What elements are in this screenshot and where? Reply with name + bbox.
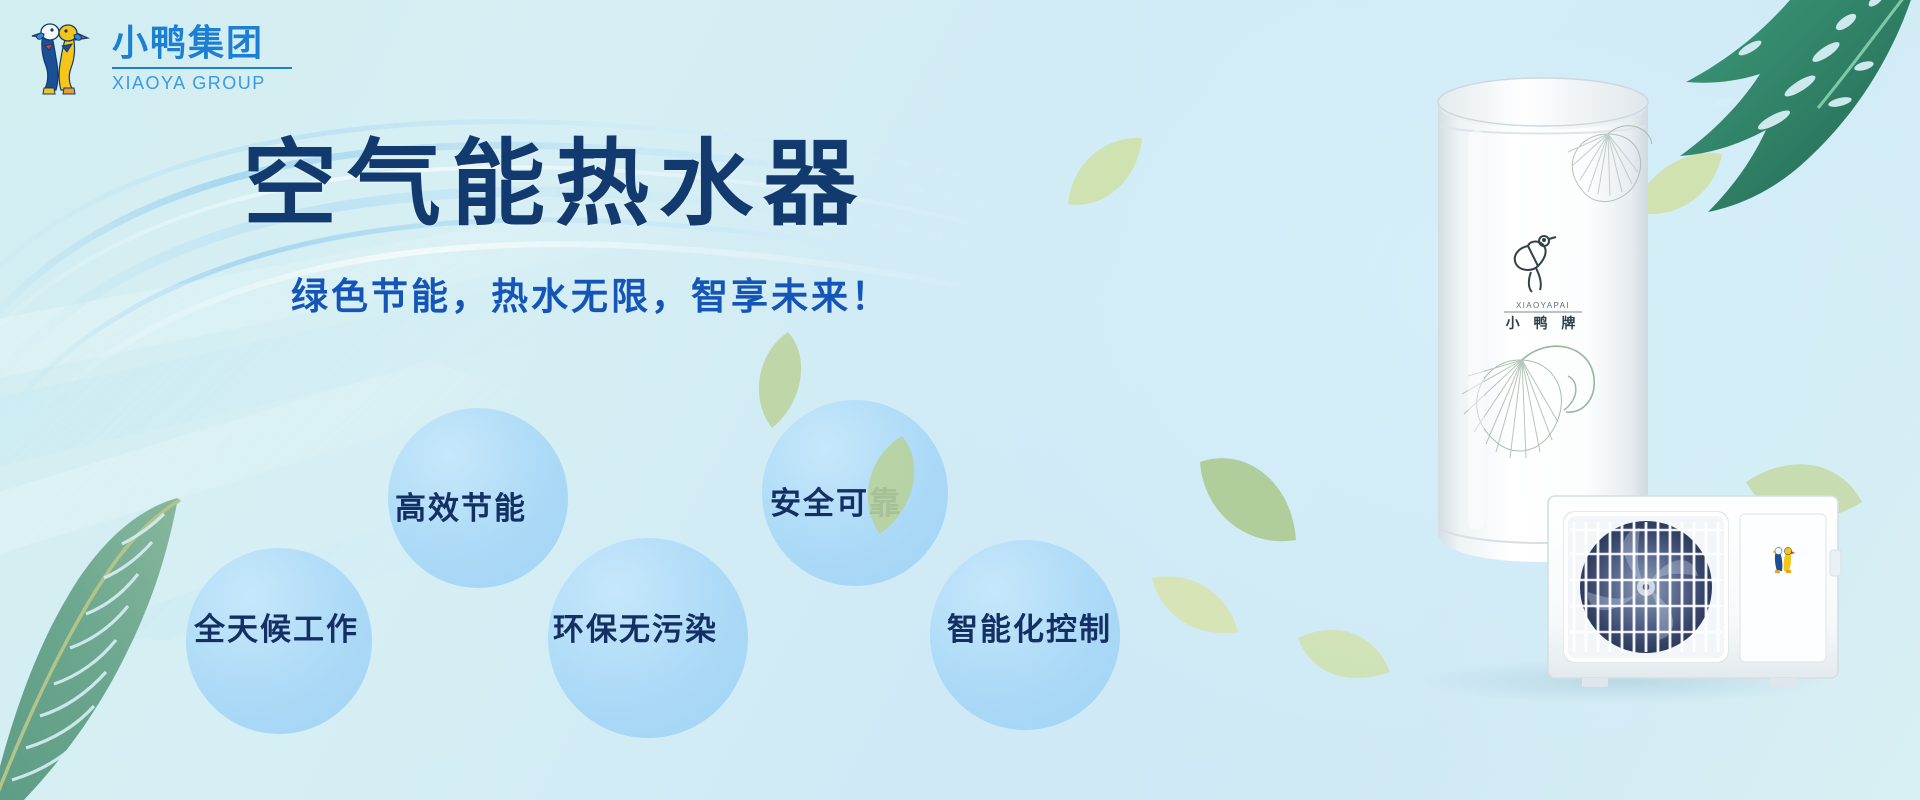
feature-label-allweather: 全天候工作 xyxy=(194,604,359,649)
logo-cn-label: 小鸭集团 xyxy=(112,22,264,63)
floating-leaf-icon xyxy=(1150,570,1240,640)
duck-mascots-icon xyxy=(1769,544,1797,574)
brand-logo[interactable]: 小鸭集团 XIAOYA GROUP xyxy=(22,14,292,100)
logo-en-text: XIAOYA GROUP xyxy=(112,72,292,94)
feature-label-safe: 安全可靠 xyxy=(770,478,902,523)
logo-en-label: XIAOYA GROUP xyxy=(112,73,266,93)
hero-banner: 小鸭集团 XIAOYA GROUP 空气能热水器 绿色节能，热水无限，智享未来！… xyxy=(0,0,1920,800)
floating-leaf-icon xyxy=(1296,620,1392,686)
feature-label-ecofriendly: 环保无污染 xyxy=(553,604,718,649)
page-title: 空气能热水器 xyxy=(243,136,1143,232)
tank-brand-cn: 小 鸭 牌 xyxy=(1506,315,1581,331)
feature-label-smart: 智能化控制 xyxy=(947,604,1112,649)
logo-cn-text: 小鸭集团 xyxy=(112,21,292,65)
product-image: XIAOYAPAI 小 鸭 牌 xyxy=(1392,58,1862,748)
headline-block: 空气能热水器 绿色节能，热水无限，智享未来！ xyxy=(243,136,1143,320)
page-subtitle: 绿色节能，热水无限，智享未来！ xyxy=(291,266,1143,320)
feature-label-efficient: 高效节能 xyxy=(395,483,527,528)
logo-divider xyxy=(112,67,292,69)
heat-pump-outdoor-unit xyxy=(1544,490,1844,695)
tank-brand-en: XIAOYAPAI xyxy=(1516,301,1570,310)
duck-mascots-icon xyxy=(22,16,102,98)
floating-leaf-icon xyxy=(1192,440,1302,556)
